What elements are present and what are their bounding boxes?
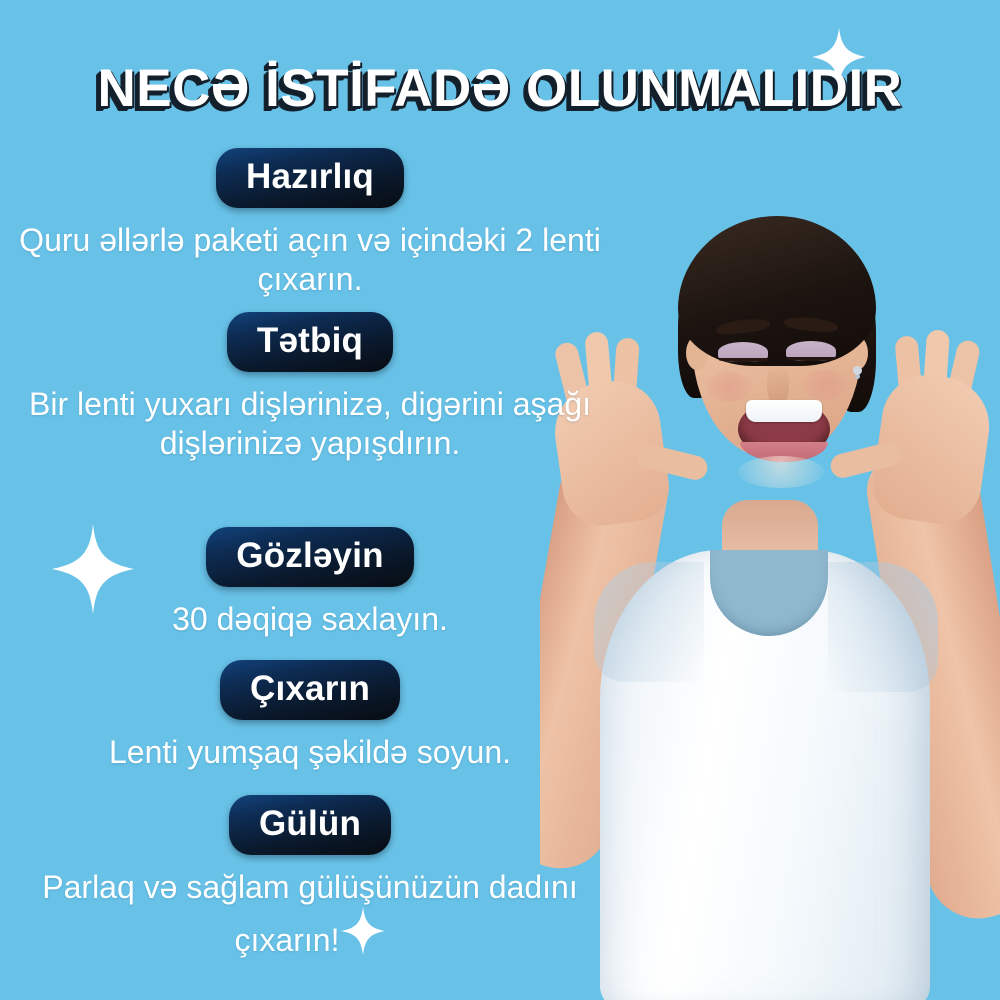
sparkle-icon — [341, 907, 385, 964]
step-badge-gulun[interactable]: Gülün — [229, 795, 391, 855]
step-badge-cixarin[interactable]: Çıxarın — [220, 660, 400, 720]
earring — [853, 366, 862, 375]
step-description-3: 30 dəqiqə saxlayın. — [0, 600, 620, 639]
step-badge-tetbiq[interactable]: Tətbiq — [227, 312, 393, 372]
eyelash-right — [787, 357, 836, 361]
model-hair — [678, 216, 876, 366]
step-4: Çıxarın Lenti yumşaq şəkildə soyun. — [0, 660, 620, 772]
step-badge-gozleyin[interactable]: Gözləyin — [206, 527, 413, 587]
eyelash-left — [719, 358, 768, 362]
page-title: NECƏ İSTİFADƏ OLUNMALIDIR — [0, 58, 1000, 119]
step-description-5: Parlaq və sağlam gülüşünüzün dadını çıxa… — [0, 868, 620, 964]
step-badge-hazirliq[interactable]: Hazırlıq — [216, 148, 404, 208]
step-description-2: Bir lenti yuxarı dişlərinizə, digərini a… — [0, 385, 620, 463]
chin-highlight — [738, 456, 824, 488]
step-2: Tətbiq Bir lenti yuxarı dişlərinizə, dig… — [0, 312, 620, 463]
cheek-left — [706, 372, 752, 402]
step-1: Hazırlıq Quru əllərlə paketi açın və içi… — [0, 148, 620, 299]
poster-canvas: NECƏ İSTİFADƏ OLUNMALIDIR Hazırlıq Quru … — [0, 0, 1000, 1000]
whitening-strip-on-teeth — [746, 400, 822, 422]
step-description-5-text: Parlaq və sağlam gülüşünüzün dadını çıxa… — [42, 869, 577, 958]
step-5: Gülün Parlaq və sağlam gülüşünüzün dadın… — [0, 795, 620, 964]
cheek-right — [802, 370, 848, 400]
step-description-1: Quru əllərlə paketi açın və içindəki 2 l… — [0, 221, 620, 299]
step-description-4: Lenti yumşaq şəkildə soyun. — [0, 733, 620, 772]
nose — [767, 364, 789, 404]
step-3: Gözləyin 30 dəqiqə saxlayın. — [0, 527, 620, 639]
shirt-shadow-right — [828, 562, 938, 692]
